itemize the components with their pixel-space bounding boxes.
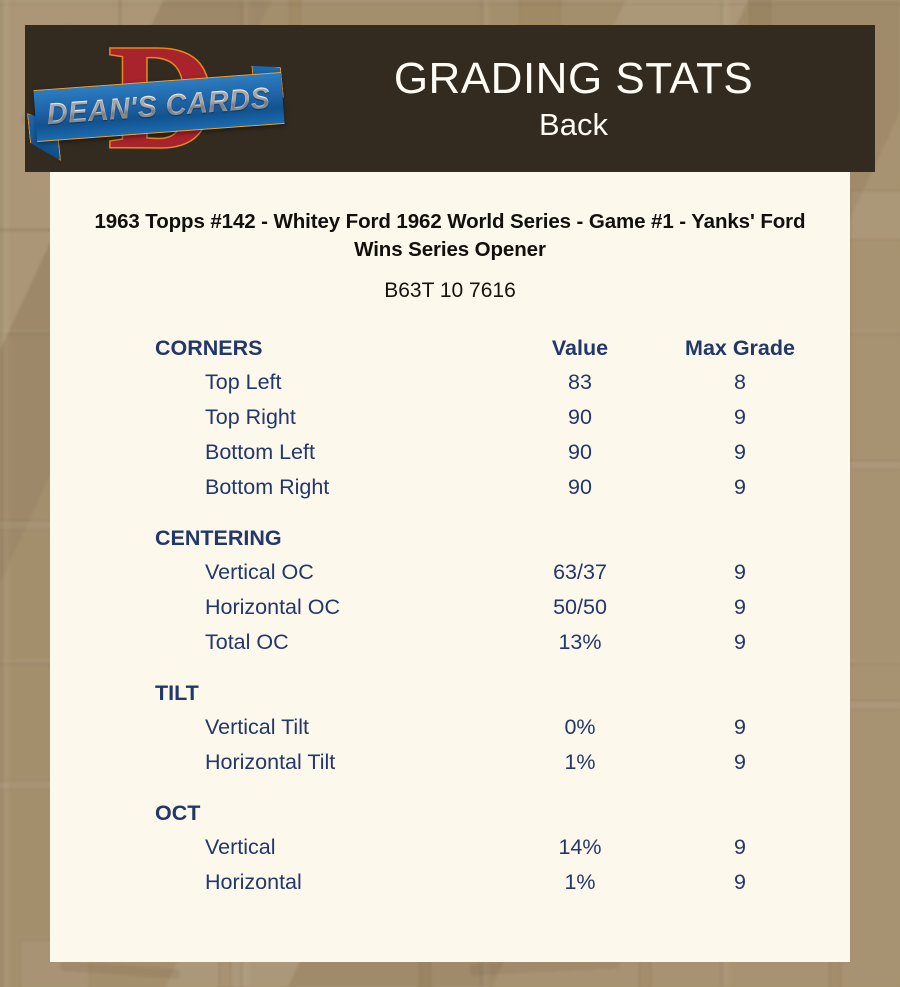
deans-cards-logo[interactable]: D D DEAN'S CARDS: [25, 25, 290, 172]
cell-max-grade: 8: [660, 365, 820, 400]
cell-value: 13%: [500, 625, 660, 660]
cell-value: 90: [500, 400, 660, 435]
cell-max-grade: 9: [660, 400, 820, 435]
page-title: GRADING STATS: [394, 54, 753, 104]
cell-max-grade: 9: [660, 435, 820, 470]
app-header: D D DEAN'S CARDS GRADING STATS Back: [25, 25, 875, 172]
logo-wordmark: DEAN'S CARDS: [46, 82, 272, 132]
cell-max-grade: 9: [660, 590, 820, 625]
cell-max-grade: 9: [660, 745, 820, 780]
cell-value: 90: [500, 470, 660, 505]
cell-max-grade: Max Grade: [660, 332, 820, 365]
table-row: Bottom Right909: [155, 470, 794, 505]
cell-value: 50/50: [500, 590, 660, 625]
grading-stats-table: CORNERSValueMax GradeTop Left838Top Righ…: [50, 332, 850, 900]
table-row: Top Left838: [155, 365, 794, 400]
cell-label: Horizontal Tilt: [155, 745, 500, 780]
card-title: 1963 Topps #142 - Whitey Ford 1962 World…: [50, 172, 850, 264]
table-row: Total OC13%9: [155, 625, 794, 660]
cell-max-grade: 9: [660, 865, 820, 900]
section-heading: OCT: [155, 797, 500, 830]
cell-value: 1%: [500, 745, 660, 780]
cell-value: 90: [500, 435, 660, 470]
section-heading-row: CENTERING: [155, 522, 794, 555]
cell-label: Top Left: [155, 365, 500, 400]
table-row: Horizontal1%9: [155, 865, 794, 900]
cell-label: Vertical: [155, 830, 500, 865]
section-heading-row: OCT: [155, 797, 794, 830]
table-row: Vertical14%9: [155, 830, 794, 865]
table-row: Vertical Tilt0%9: [155, 710, 794, 745]
cell-max-grade: 9: [660, 470, 820, 505]
cell-max-grade: 9: [660, 555, 820, 590]
cell-label: Horizontal: [155, 865, 500, 900]
page-subtitle: Back: [539, 106, 608, 144]
column-header-section: CORNERS: [155, 332, 500, 365]
cell-value: 63/37: [500, 555, 660, 590]
cell-value: 1%: [500, 865, 660, 900]
table-row: Horizontal OC50/509: [155, 590, 794, 625]
cell-label: Vertical Tilt: [155, 710, 500, 745]
cell-max-grade: 9: [660, 830, 820, 865]
section-heading: TILT: [155, 677, 500, 710]
section-heading: CENTERING: [155, 522, 500, 555]
table-row: Bottom Left909: [155, 435, 794, 470]
table-row: Vertical OC63/379: [155, 555, 794, 590]
cell-label: Horizontal OC: [155, 590, 500, 625]
cell-max-grade: 9: [660, 710, 820, 745]
table-row: Top Right909: [155, 400, 794, 435]
cell-max-grade: 9: [660, 625, 820, 660]
cell-label: Total OC: [155, 625, 500, 660]
section-heading-row: TILT: [155, 677, 794, 710]
table-header-row: CORNERSValueMax Grade: [155, 332, 794, 365]
cell-label: Bottom Right: [155, 470, 500, 505]
logo-ribbon-banner: DEAN'S CARDS: [33, 72, 284, 142]
cell-label: Top Right: [155, 400, 500, 435]
table-row: Horizontal Tilt1%9: [155, 745, 794, 780]
content-panel: 1963 Topps #142 - Whitey Ford 1962 World…: [50, 172, 850, 962]
card-id: B63T 10 7616: [50, 278, 850, 304]
cell-label: Bottom Left: [155, 435, 500, 470]
header-title-group: GRADING STATS Back: [290, 25, 875, 172]
cell-value: 0%: [500, 710, 660, 745]
cell-label: Vertical OC: [155, 555, 500, 590]
cell-value: 83: [500, 365, 660, 400]
cell-value: 14%: [500, 830, 660, 865]
cell-value: Value: [500, 332, 660, 365]
